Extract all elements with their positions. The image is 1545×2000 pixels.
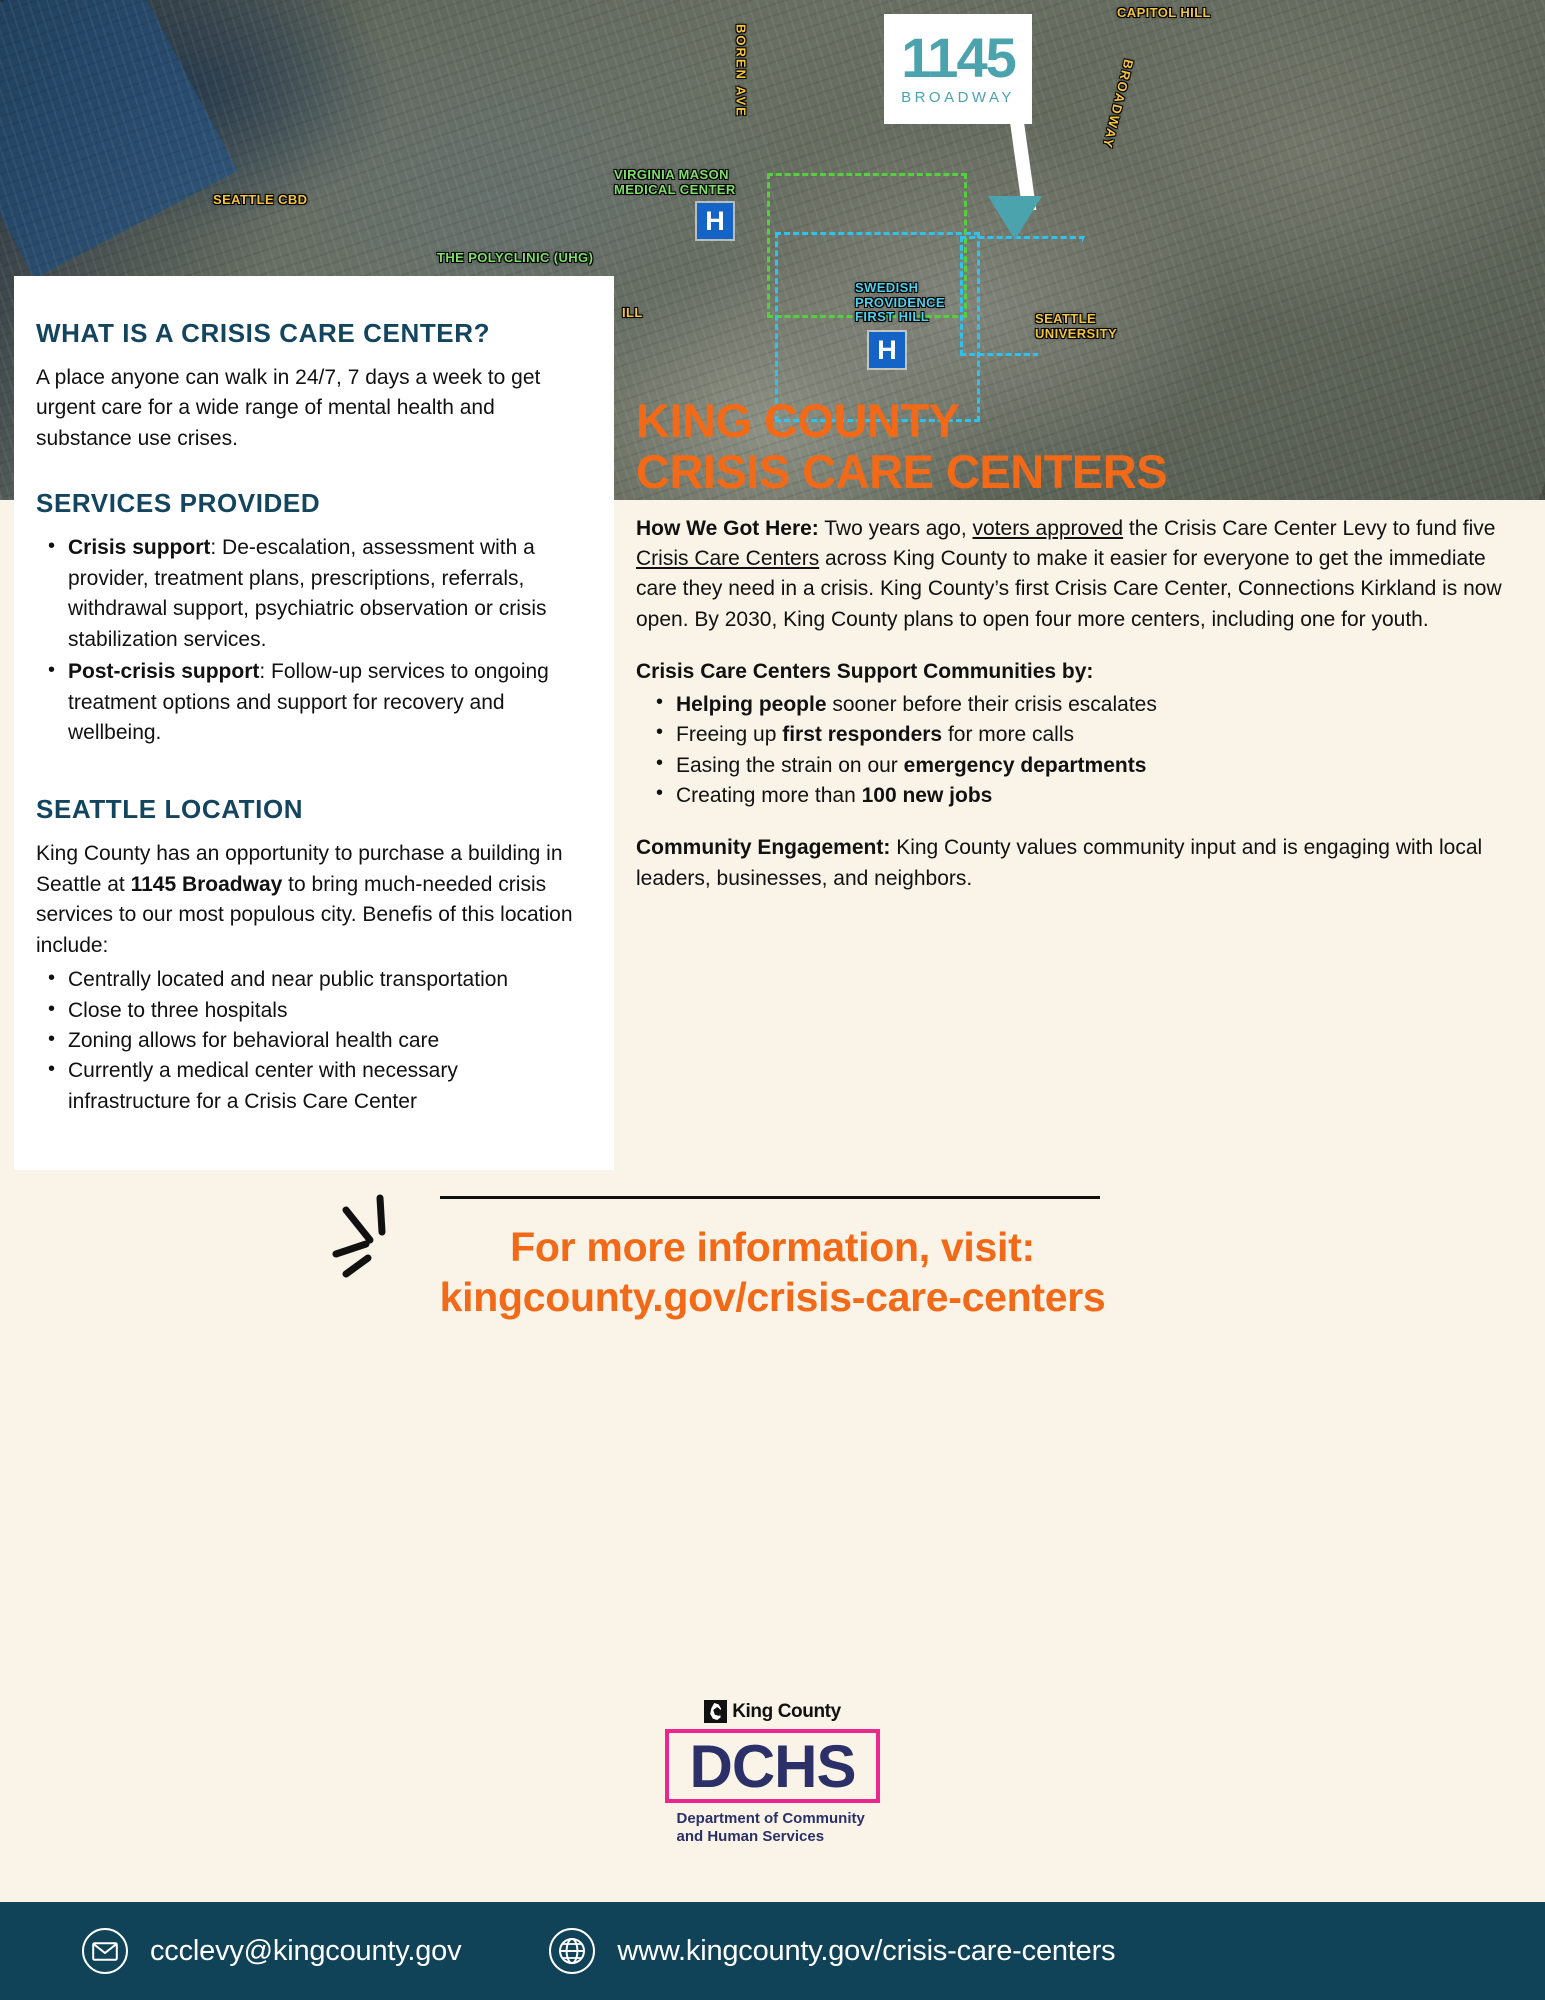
globe-icon — [549, 1928, 595, 1974]
list-item: Helping people sooner before their crisi… — [636, 690, 1515, 720]
support-pre: Easing the strain on our — [676, 754, 904, 777]
page-title-line1: KING COUNTY — [636, 396, 1515, 447]
list-item: Currently a medical center with necessar… — [36, 1056, 580, 1117]
support-lead: Helping people — [676, 693, 827, 716]
service-lead: Post-crisis support — [68, 660, 259, 683]
list-item: Freeing up first responders for more cal… — [636, 720, 1515, 750]
map-label-seattle-cbd: SEATTLE CBD — [213, 193, 307, 208]
footer-website-text[interactable]: www.kingcounty.gov/crisis-care-centers — [617, 1935, 1115, 1968]
heading-what-is-a-crisis-care-center: WHAT IS A CRISIS CARE CENTER? — [36, 318, 580, 349]
cta-line2[interactable]: kingcounty.gov/crisis-care-centers — [0, 1272, 1545, 1322]
cta-line1: For more information, visit: — [0, 1222, 1545, 1272]
callout-word: BROADWAY — [901, 89, 1015, 106]
map-label-first-hill: ILL — [622, 306, 643, 321]
support-lead: emergency departments — [904, 754, 1147, 777]
support-rest: sooner before their crisis escalates — [827, 693, 1157, 716]
dchs-acronym: DCHS — [689, 1737, 855, 1797]
hospital-marker-swedish: H — [869, 332, 905, 368]
map-label-capitol-hill: CAPITOL HILL — [1117, 6, 1211, 21]
list-item: Zoning allows for behavioral health care — [36, 1026, 580, 1056]
support-communities-heading: Crisis Care Centers Support Communities … — [636, 657, 1515, 687]
map-label-swedish-providence: SWEDISH PROVIDENCE FIRST HILL — [855, 281, 945, 325]
spacer — [636, 635, 1515, 657]
page-title-line2: CRISIS CARE CENTERS — [636, 447, 1515, 498]
link-crisis-care-centers[interactable]: Crisis Care Centers — [636, 547, 819, 570]
support-lead: first responders — [782, 723, 942, 746]
heading-services-provided: SERVICES PROVIDED — [36, 488, 580, 519]
spacer — [636, 811, 1515, 833]
support-pre: Freeing up — [676, 723, 782, 746]
callout-pin-tip — [988, 196, 1042, 240]
dchs-department-name: Department of Community and Human Servic… — [677, 1810, 869, 1847]
list-item: Crisis support: De-escalation, assessmen… — [36, 533, 580, 655]
footer-email-item[interactable]: ccclevy@kingcounty.gov — [82, 1928, 461, 1974]
map-label-seattle-university: SEATTLE UNIVERSITY — [1035, 312, 1117, 341]
king-county-logo-row: King County — [704, 1700, 841, 1723]
cta-text: For more information, visit: kingcounty.… — [0, 1222, 1545, 1322]
how-text-b: the Crisis Care Center Levy to fund five — [1123, 517, 1495, 540]
dchs-acronym-box: DCHS — [665, 1729, 879, 1803]
support-pre: Creating more than — [676, 784, 862, 807]
list-item: Easing the strain on our emergency depar… — [636, 751, 1515, 781]
support-rest: for more calls — [942, 723, 1074, 746]
hospital-marker-virginia-mason: H — [697, 203, 733, 239]
left-info-panel: WHAT IS A CRISIS CARE CENTER? A place an… — [14, 276, 614, 1170]
community-engagement-paragraph: Community Engagement: King County values… — [636, 833, 1515, 894]
dchs-logo: King County DCHS Department of Community… — [0, 1700, 1545, 1847]
engagement-label: Community Engagement: — [636, 836, 890, 859]
map-label-the-polyclinic: THE POLYCLINIC (UHG) — [437, 251, 593, 266]
king-county-mlk-icon — [704, 1700, 727, 1723]
list-item: Centrally located and near public transp… — [36, 965, 580, 995]
callout-number: 1145 — [901, 33, 1015, 83]
service-lead: Crisis support — [68, 536, 210, 559]
list-item: Close to three hospitals — [36, 996, 580, 1026]
map-label-virginia-mason: VIRGINIA MASON MEDICAL CENTER — [614, 168, 736, 197]
list-item: Creating more than 100 new jobs — [636, 781, 1515, 811]
footer-website-item[interactable]: www.kingcounty.gov/crisis-care-centers — [549, 1928, 1115, 1974]
heading-seattle-location: SEATTLE LOCATION — [36, 794, 580, 825]
intro-paragraph: A place anyone can walk in 24/7, 7 days … — [36, 363, 580, 454]
support-lead: 100 new jobs — [862, 784, 993, 807]
location-address: 1145 Broadway — [131, 873, 283, 896]
call-to-action: For more information, visit: kingcounty.… — [0, 1172, 1545, 1492]
support-list: Helping people sooner before their crisi… — [636, 690, 1515, 812]
location-paragraph: King County has an opportunity to purcha… — [36, 839, 580, 961]
list-item: Post-crisis support: Follow-up services … — [36, 657, 580, 748]
how-text-a: Two years ago, — [819, 517, 973, 540]
how-we-got-here-label: How We Got Here: — [636, 517, 819, 540]
callout-1145-broadway: 1145 BROADWAY — [884, 14, 1032, 124]
footer-email-text[interactable]: ccclevy@kingcounty.gov — [150, 1935, 461, 1968]
how-we-got-here-paragraph: How We Got Here: Two years ago, voters a… — [636, 514, 1515, 636]
services-list: Crisis support: De-escalation, assessmen… — [36, 533, 580, 748]
cta-divider-rule — [440, 1196, 1100, 1199]
footer-contact-bar: ccclevy@kingcounty.gov www.kingcounty.go… — [0, 1902, 1545, 2000]
page-title: KING COUNTY CRISIS CARE CENTERS — [636, 396, 1515, 498]
support-label: Crisis Care Centers Support Communities … — [636, 660, 1093, 683]
envelope-icon — [82, 1928, 128, 1974]
map-label-boren-ave: BOREN AVE — [733, 24, 748, 118]
right-info-column: KING COUNTY CRISIS CARE CENTERS How We G… — [614, 380, 1545, 1170]
benefits-list: Centrally located and near public transp… — [36, 965, 580, 1117]
link-voters-approved[interactable]: voters approved — [973, 517, 1124, 540]
king-county-wordmark: King County — [732, 1701, 841, 1723]
